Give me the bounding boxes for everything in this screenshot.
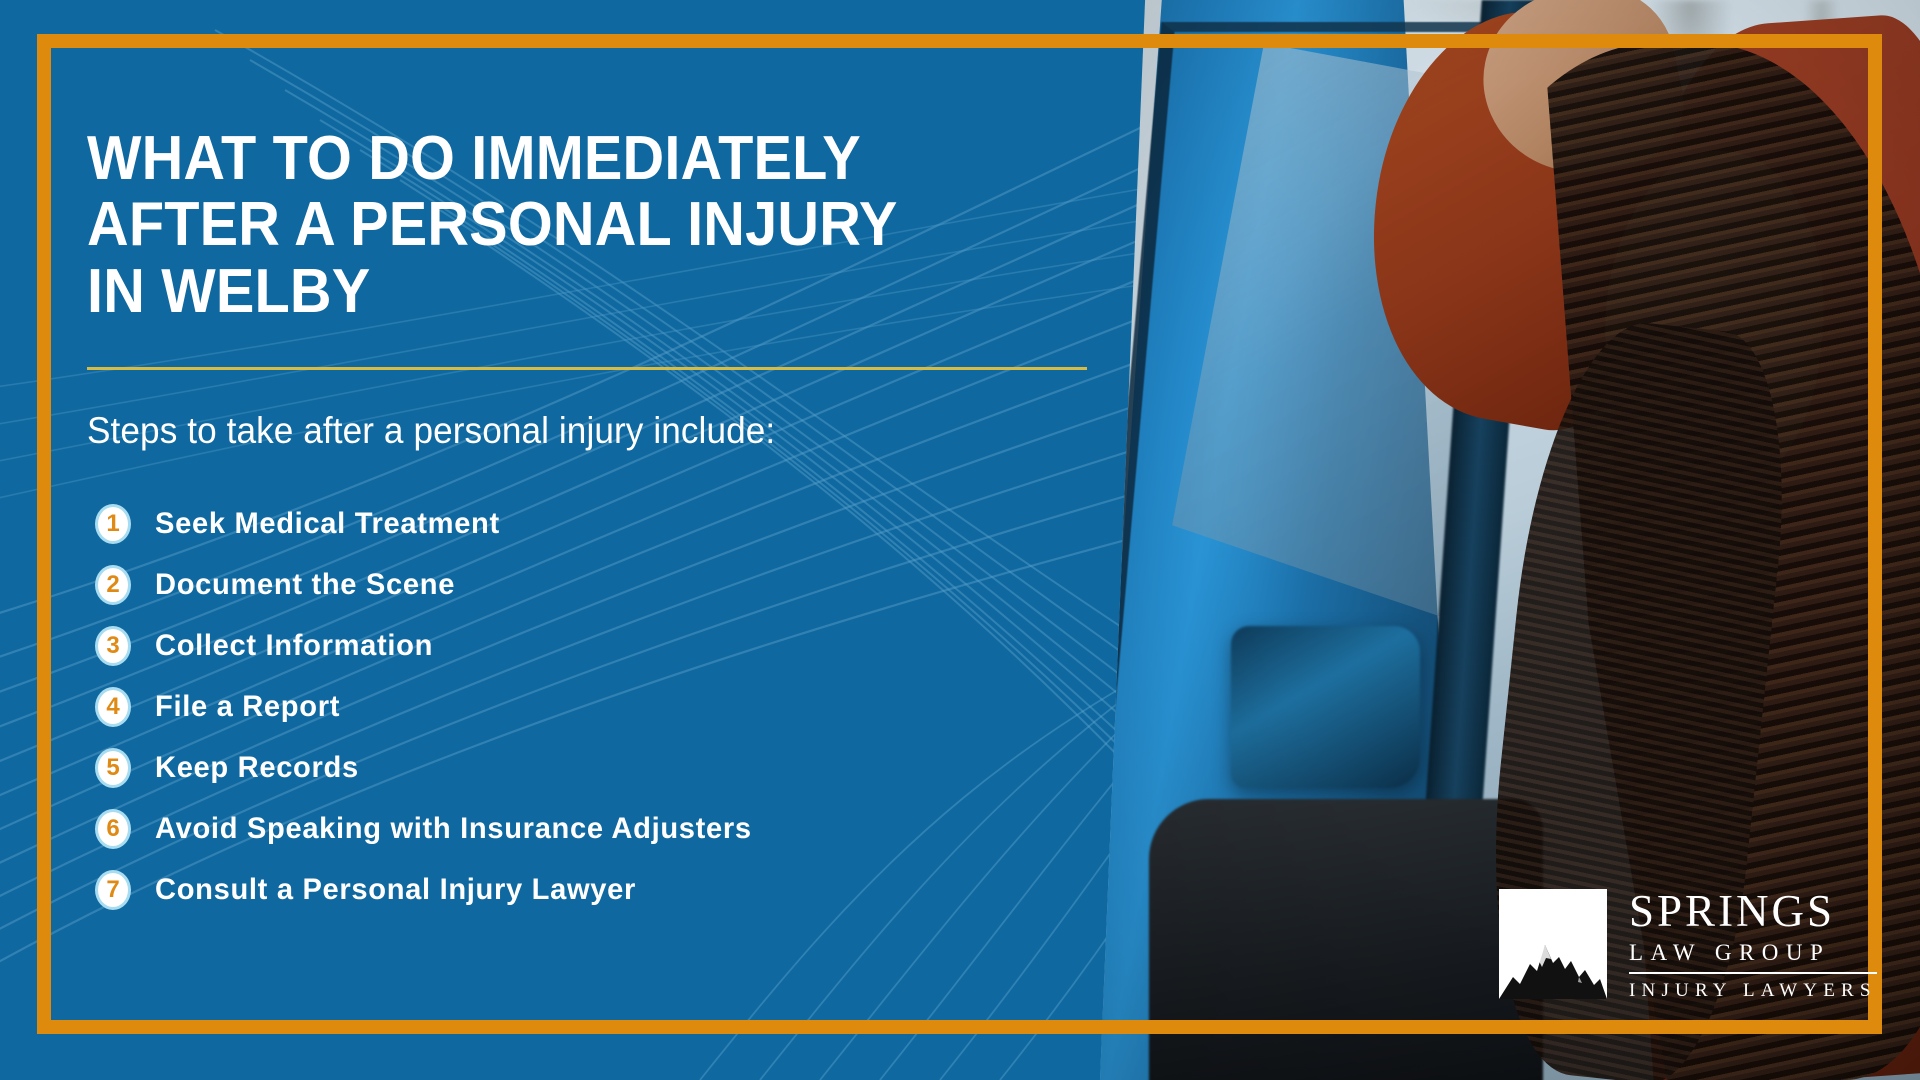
steps-list: 1 Seek Medical Treatment 2 Document the … xyxy=(87,494,1067,921)
step-label: Keep Records xyxy=(155,751,359,785)
list-item: 5 Keep Records xyxy=(87,738,1067,799)
step-number-badge: 1 xyxy=(95,504,131,544)
list-item: 4 File a Report xyxy=(87,677,1067,738)
logo-brand-name: SPRINGS xyxy=(1629,889,1877,934)
gold-divider xyxy=(87,367,1087,370)
infographic-canvas: WHAT TO DO IMMEDIATELY AFTER A PERSONAL … xyxy=(0,0,1920,1080)
step-number-badge: 2 xyxy=(95,565,131,605)
brand-logo: SPRINGS LAW GROUP INJURY LAWYERS xyxy=(1499,880,1879,1008)
step-label: Consult a Personal Injury Lawyer xyxy=(155,873,636,907)
logo-divider-rule xyxy=(1629,972,1877,974)
mountain-range-icon xyxy=(1499,889,1607,999)
content-panel: WHAT TO DO IMMEDIATELY AFTER A PERSONAL … xyxy=(0,0,1130,1080)
step-number-badge: 7 xyxy=(95,870,131,910)
list-item: 7 Consult a Personal Injury Lawyer xyxy=(87,860,1067,921)
step-number-badge: 6 xyxy=(95,809,131,849)
step-number-badge: 3 xyxy=(95,626,131,666)
list-item: 1 Seek Medical Treatment xyxy=(87,494,1067,555)
step-number-badge: 5 xyxy=(95,748,131,788)
page-title: WHAT TO DO IMMEDIATELY AFTER A PERSONAL … xyxy=(87,126,952,325)
list-item: 6 Avoid Speaking with Insurance Adjuster… xyxy=(87,799,1067,860)
step-label: Avoid Speaking with Insurance Adjusters xyxy=(155,812,752,846)
logo-tagline: INJURY LAWYERS xyxy=(1629,981,1877,1000)
logo-wordmark: SPRINGS LAW GROUP INJURY LAWYERS xyxy=(1629,889,1877,1000)
step-label: File a Report xyxy=(155,690,340,724)
list-item: 3 Collect Information xyxy=(87,616,1067,677)
step-number-badge: 4 xyxy=(95,687,131,727)
list-item: 2 Document the Scene xyxy=(87,555,1067,616)
logo-practice-name: LAW GROUP xyxy=(1629,941,1877,964)
step-label: Seek Medical Treatment xyxy=(155,507,500,541)
subtitle: Steps to take after a personal injury in… xyxy=(87,410,1018,452)
step-label: Collect Information xyxy=(155,629,433,663)
step-label: Document the Scene xyxy=(155,568,455,602)
